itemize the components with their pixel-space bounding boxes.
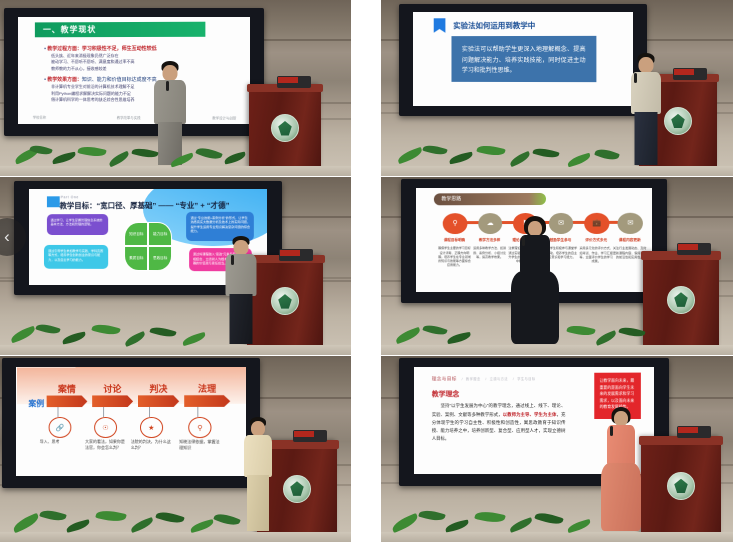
microphone bbox=[634, 73, 637, 83]
presenter-head bbox=[163, 65, 178, 81]
projection-screen: 案例 案情 讨论 判决 法理 🔗 ☉ ★ ⚲ bbox=[2, 358, 260, 488]
microphone bbox=[231, 255, 234, 265]
presenter-torso bbox=[154, 80, 186, 124]
node-label-2: 教学方法多样 bbox=[472, 238, 507, 243]
laptop bbox=[677, 426, 711, 438]
presenter-legs bbox=[158, 122, 182, 165]
body-highlight: 以教师为主导、学生为主体 bbox=[503, 412, 557, 417]
slide-title-bar: 一、教学现状 bbox=[35, 22, 206, 38]
photo-panel-middle-left: Part One 教学目标：“宽口径、厚基础” —— “专业” + “才德” 知… bbox=[0, 177, 351, 355]
slide-keyword: 案例 bbox=[29, 398, 45, 409]
presenter-torso bbox=[244, 435, 272, 477]
presenter-skirt bbox=[511, 271, 559, 344]
slide-content: 实验法如何运用到教学中 实验法可以帮助学生更深入地理解概念、提高问题解决能力、培… bbox=[413, 12, 634, 106]
slide-footer: 学校名称 教学改革与实践 教学设计与创新 bbox=[33, 115, 237, 121]
quadrant-quality: 素质目标 bbox=[124, 246, 148, 271]
laptop-screen bbox=[280, 250, 300, 256]
presenter-dress bbox=[601, 463, 641, 531]
laptop bbox=[677, 243, 711, 255]
presenter bbox=[627, 53, 665, 165]
presenter-head bbox=[528, 221, 542, 236]
arrow-2 bbox=[92, 395, 133, 407]
slide-body-box: 实验法可以帮助学生更深入地理解概念、提高问题解决能力、培养实践技能，同时促进主动… bbox=[451, 36, 597, 81]
chevron-left-icon: ‹ bbox=[4, 227, 10, 247]
microphone bbox=[166, 81, 169, 91]
footer-right: 教学设计与创新 bbox=[213, 115, 237, 120]
photo-panel-top-left: 一、教学现状 • 教学过程方面：学习积极性不足，师生互动性较低 低头族、近年来消… bbox=[0, 0, 351, 176]
projection-screen: 实验法如何运用到教学中 实验法可以帮助学生更深入地理解概念、提高问题解决能力、培… bbox=[399, 4, 647, 116]
laptop-screen bbox=[278, 77, 298, 83]
arrow-3 bbox=[138, 395, 179, 407]
photo-grid: 一、教学现状 • 教学过程方面：学习积极性不足，师生互动性较低 低头族、近年来消… bbox=[0, 0, 733, 540]
step-label-2: 讨论 bbox=[94, 382, 131, 395]
laptop-screen bbox=[678, 244, 698, 250]
bullet-sub: 教师教的力不从心，接收感较差 bbox=[51, 66, 236, 72]
slide-title: 教学理念 bbox=[432, 389, 460, 399]
laptop bbox=[277, 76, 311, 88]
breadcrumb-item-3: 学生与目标 bbox=[517, 377, 535, 381]
node-label-1: 课程目标明确 bbox=[437, 238, 472, 243]
slide-title: 一、教学现状 bbox=[43, 24, 96, 35]
bullet-heading: 教学效果方面： bbox=[48, 77, 83, 83]
presenter bbox=[150, 61, 190, 165]
presenter-head bbox=[614, 411, 628, 426]
node-text-2: 运用多种教学方法、如讲授、案例分析、小组讨论等，提高教学效果。 bbox=[472, 246, 507, 259]
microphone bbox=[522, 236, 525, 246]
podium bbox=[641, 436, 721, 536]
bullet-sub: 借计算机科学的一体思考的缺乏综合性思维培养 bbox=[51, 97, 236, 104]
school-emblem-icon bbox=[667, 472, 695, 500]
breadcrumb-item-1: 教学理念 bbox=[466, 377, 481, 381]
school-emblem-icon bbox=[271, 114, 299, 142]
photo-panel-middle-right: 教学思路 ⚲ ☁ ⚑ ✉ 💼 ✉ 课程目标明确 教学方法多样 理论与实践结合 鼓… bbox=[381, 177, 733, 355]
breadcrumb-item-2: 立德与方法 bbox=[490, 377, 508, 381]
part-label: Part One bbox=[60, 195, 78, 199]
quadrant-knowledge: 知识目标 bbox=[124, 222, 148, 247]
arrow-4 bbox=[184, 395, 230, 407]
footer-center: 教学改革与实践 bbox=[117, 115, 141, 120]
presenter bbox=[509, 216, 561, 344]
step-caption-2: 大家的看法，如果你是法官，你会怎么判？ bbox=[85, 439, 126, 451]
school-emblem-icon bbox=[271, 287, 299, 315]
step-caption-4: 知晓法律依据，掌握法理知识 bbox=[179, 439, 221, 451]
podium bbox=[249, 84, 321, 168]
quadrant-ability: 能力目标 bbox=[148, 222, 172, 247]
photo-panel-bottom-left: 案例 案情 讨论 判决 法理 🔗 ☉ ★ ⚲ bbox=[0, 356, 351, 542]
node-icon-cloud: ☁ bbox=[477, 213, 502, 234]
quadrant-ideology: 思政目标 bbox=[148, 246, 172, 271]
slide-title-bar: 教学思路 bbox=[433, 193, 546, 205]
breadcrumb-current: 理念与目标 bbox=[432, 376, 457, 381]
laptop-screen bbox=[294, 431, 314, 437]
node-icon-briefcase: 💼 bbox=[584, 213, 609, 234]
presenter-head bbox=[234, 240, 249, 255]
idea-icon: ☉ bbox=[94, 417, 117, 438]
callout-purple: 通过学习，让学生掌握管理信息系统的基本方法、方法和管理的逻辑。 bbox=[46, 214, 107, 235]
podium bbox=[643, 251, 719, 347]
callout-cyan: 通过引导学生参加教学与实践、学科竞赛等方式，培养学生创新创业的意识与能力，以及自… bbox=[44, 244, 108, 269]
presenter-legs bbox=[247, 475, 269, 531]
step-label-4: 法理 bbox=[189, 382, 226, 395]
laptop bbox=[673, 68, 707, 80]
slide-bullet-2: • 教学效果方面：知识、能力和价值目标达成度不高 非计算机专业学生对前沿的计算机… bbox=[44, 76, 236, 103]
node-text-1: 确保学生主要的学习目标设计清晰、正确方向明确，培养学生在专业领域的知识与技能等方… bbox=[437, 246, 472, 267]
slide-title: 教学目标：“宽口径、厚基础” —— “专业” + “才德” bbox=[59, 200, 229, 211]
node-text-5: 采用多元化的评价方式、如考试、作业、学习汇报等，全面评价学生的学习成果。 bbox=[578, 246, 614, 263]
presenter bbox=[599, 407, 643, 531]
footer-left: 学校名称 bbox=[33, 115, 46, 120]
step-caption-3: 法院的判决，为什么这么判？ bbox=[131, 439, 172, 451]
breadcrumb: 理念与目标 /教学理念 /立德与方法 /学生与目标 bbox=[432, 376, 536, 382]
slide-bullet-1: • 教学过程方面：学习积极性不足，师生互动性较低 低头族、近年来消极现象仍然广泛… bbox=[44, 45, 236, 72]
link-icon: 🔗 bbox=[49, 417, 71, 437]
step-label-1: 案情 bbox=[49, 383, 85, 396]
search-icon: ⚲ bbox=[189, 417, 212, 438]
school-emblem-icon bbox=[283, 475, 311, 503]
school-emblem-icon bbox=[664, 107, 692, 135]
slide-content: 案例 案情 讨论 判决 法理 🔗 ☉ ★ ⚲ bbox=[16, 367, 246, 476]
microphone bbox=[610, 426, 613, 436]
presenter-head bbox=[251, 421, 265, 436]
photo-panel-bottom-right: 理念与目标 /教学理念 /立德与方法 /学生与目标 教学理念 坚持“以学生发展为… bbox=[381, 356, 733, 542]
presenter bbox=[222, 236, 260, 344]
slide-title: 实验法如何运用到教学中 bbox=[453, 19, 535, 30]
presenter-legs bbox=[635, 112, 658, 165]
section-tag bbox=[46, 196, 59, 207]
slide-body: 坚持“以学生发展为中心”的教学理念，通过线上、线下、理论、实验、案例、文献等多种… bbox=[432, 402, 566, 443]
slide-content: 一、教学现状 • 教学过程方面：学习积极性不足，师生互动性较低 低头族、近年来消… bbox=[18, 17, 249, 125]
bullet-text: 知识、能力和价值目标达成度不高 bbox=[82, 77, 157, 83]
school-emblem-icon bbox=[667, 286, 695, 314]
arrow-1 bbox=[47, 396, 88, 408]
node-icon-search: ⚲ bbox=[442, 213, 467, 234]
step-label-3: 判决 bbox=[140, 382, 177, 395]
laptop-screen bbox=[678, 427, 698, 433]
bullet-highlight: 学习积极性不足，师生互动性较低 bbox=[82, 46, 157, 52]
laptop bbox=[279, 249, 313, 261]
presenter-legs bbox=[230, 294, 253, 344]
bookmark-icon bbox=[433, 18, 445, 33]
node-icon-mail-2: ✉ bbox=[617, 212, 642, 233]
slide-title: 教学思路 bbox=[441, 195, 461, 202]
laptop bbox=[293, 430, 327, 442]
step-caption-1: 导入、思考 bbox=[40, 439, 81, 445]
goal-quadrant-diagram: 知识目标 能力目标 素质目标 思政目标 bbox=[124, 222, 172, 272]
star-icon: ★ bbox=[140, 417, 163, 438]
presenter bbox=[240, 417, 276, 531]
node-label-5: 评价方式多元 bbox=[578, 238, 614, 243]
laptop-screen bbox=[674, 69, 694, 75]
photo-panel-top-right: 实验法如何运用到教学中 实验法可以帮助学生更深入地理解概念、提高问题解决能力、培… bbox=[381, 0, 733, 176]
node-label-6: 课程内容更新 bbox=[611, 238, 647, 243]
presenter-head bbox=[639, 57, 654, 73]
bullet-heading: 教学过程方面： bbox=[48, 46, 83, 52]
projection-screen: 一、教学现状 • 教学过程方面：学习积极性不足，师生互动性较低 低头族、近年来消… bbox=[4, 8, 264, 136]
